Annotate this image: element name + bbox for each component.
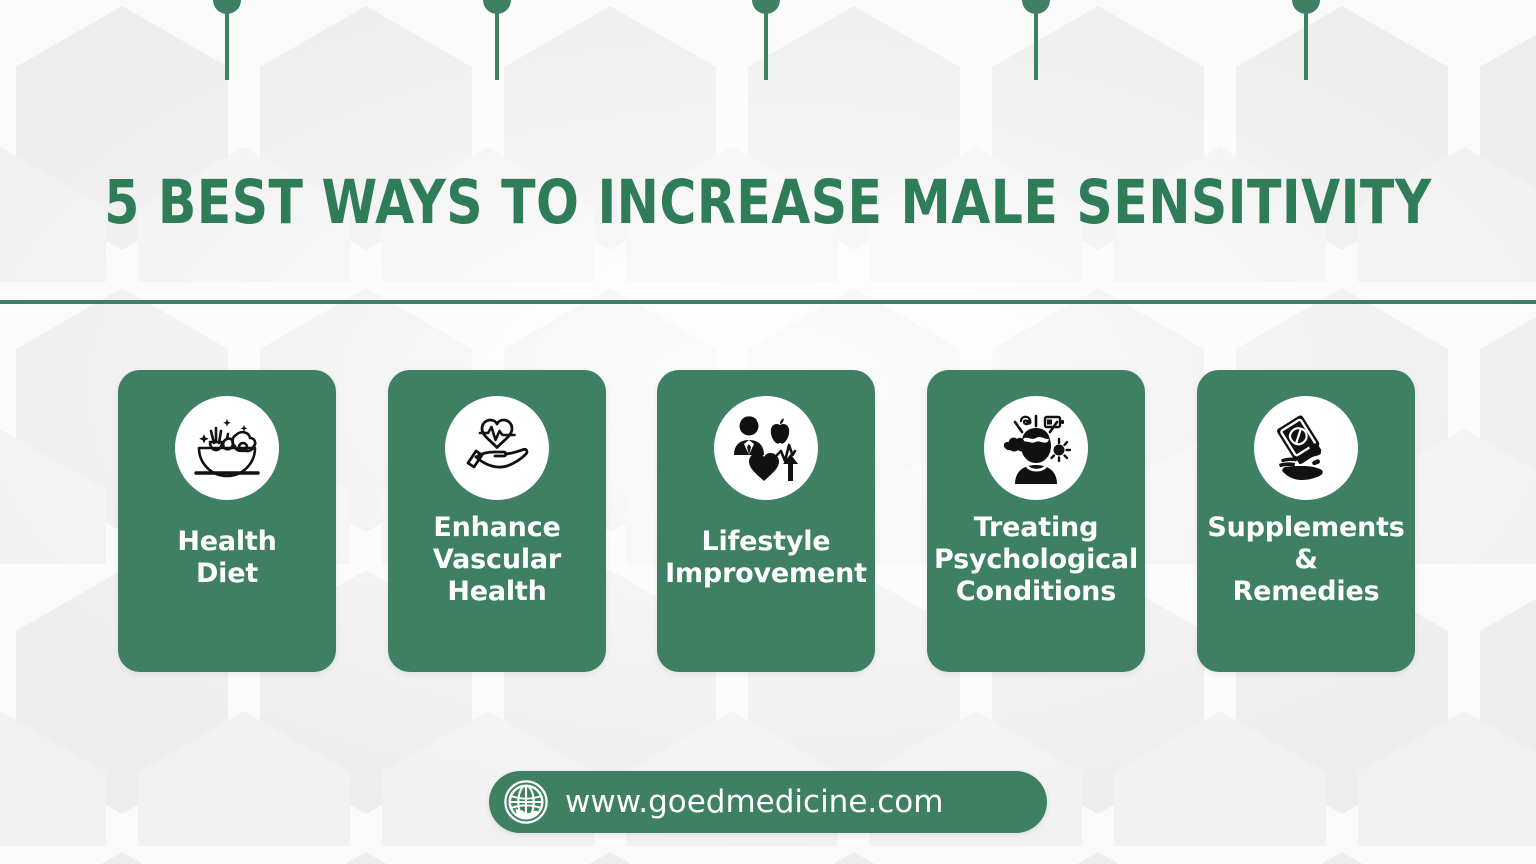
card-lifestyle-improvement[interactable]: Lifestyle Improvement — [657, 370, 875, 672]
website-url: www.goedmedicine.com — [565, 784, 943, 820]
timeline-stem — [764, 10, 768, 80]
pill-bottle-hand-icon — [1254, 396, 1358, 500]
timeline-stem — [225, 10, 229, 80]
card-label: Supplements & Remedies — [1201, 512, 1410, 608]
timeline-stem — [1034, 10, 1038, 80]
timeline-stem — [1304, 10, 1308, 80]
salad-bowl-icon — [175, 396, 279, 500]
card-label: Enhance Vascular Health — [427, 512, 567, 608]
card-enhance-vascular-health[interactable]: Enhance Vascular Health — [388, 370, 606, 672]
page-title: 5 BEST WAYS TO INCREASE MALE SENSITIVITY — [61, 168, 1474, 238]
globe-icon — [503, 779, 549, 825]
lifestyle-person-apple-heart-icon — [714, 396, 818, 500]
card-supplements-and-remedies[interactable]: Supplements & Remedies — [1197, 370, 1415, 672]
timeline-rail — [0, 300, 1536, 304]
hand-heart-pulse-icon — [445, 396, 549, 500]
website-footer-pill[interactable]: www.goedmedicine.com — [489, 771, 1047, 833]
timeline-stem — [495, 10, 499, 80]
card-label: Lifestyle Improvement — [659, 526, 873, 590]
stressed-head-icon — [984, 396, 1088, 500]
card-treating-psychological-conditions[interactable]: Treating Psychological Conditions — [927, 370, 1145, 672]
card-label: Health Diet — [171, 526, 282, 590]
card-label: Treating Psychological Conditions — [928, 512, 1144, 608]
card-health-diet[interactable]: Health Diet — [118, 370, 336, 672]
